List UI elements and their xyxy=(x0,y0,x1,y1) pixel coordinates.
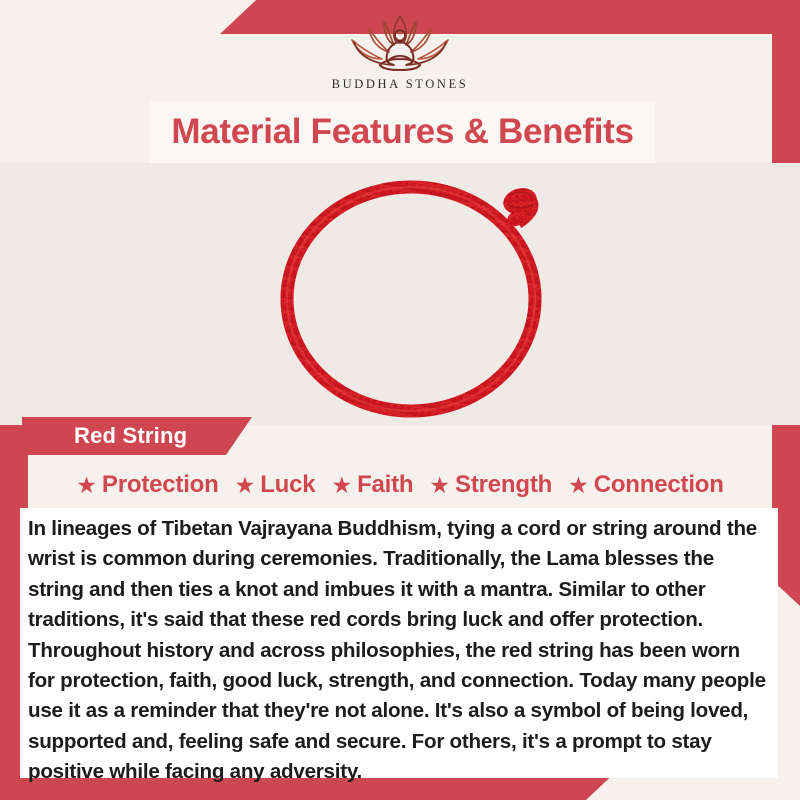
feature-label: Protection xyxy=(102,471,219,499)
material-name: Red String xyxy=(22,423,187,449)
material-name-ribbon: Red String xyxy=(22,417,252,455)
star-icon: ★ xyxy=(76,474,97,497)
feature-item-luck: ★ Luck xyxy=(229,471,322,499)
feature-item-faith: ★ Faith xyxy=(325,471,419,499)
feature-item-protection: ★ Protection xyxy=(70,471,224,499)
description-text: In lineages of Tibetan Vajrayana Buddhis… xyxy=(28,514,768,788)
product-photo-band xyxy=(0,163,800,425)
description-card: In lineages of Tibetan Vajrayana Buddhis… xyxy=(20,508,778,778)
feature-item-connection: ★ Connection xyxy=(562,471,730,499)
star-icon: ★ xyxy=(568,474,589,497)
lotus-meditation-icon xyxy=(324,12,476,74)
brand-name: BUDDHA STONES xyxy=(332,77,469,92)
feature-list: ★ Protection ★ Luck ★ Faith ★ Strength ★… xyxy=(28,466,772,504)
brand-logo: BUDDHA STONES xyxy=(0,12,800,92)
infographic-page: BUDDHA STONES Material Features & Benefi… xyxy=(0,0,800,800)
star-icon: ★ xyxy=(331,474,352,497)
star-icon: ★ xyxy=(429,474,450,497)
red-string-bracelet-image xyxy=(268,171,568,421)
feature-label: Luck xyxy=(260,471,315,499)
feature-label: Faith xyxy=(357,471,413,499)
title-banner: Material Features & Benefits xyxy=(150,101,655,163)
star-icon: ★ xyxy=(235,474,256,497)
feature-item-strength: ★ Strength xyxy=(423,471,558,499)
feature-label: Strength xyxy=(455,471,552,499)
feature-label: Connection xyxy=(594,471,724,499)
page-title: Material Features & Benefits xyxy=(171,112,633,152)
